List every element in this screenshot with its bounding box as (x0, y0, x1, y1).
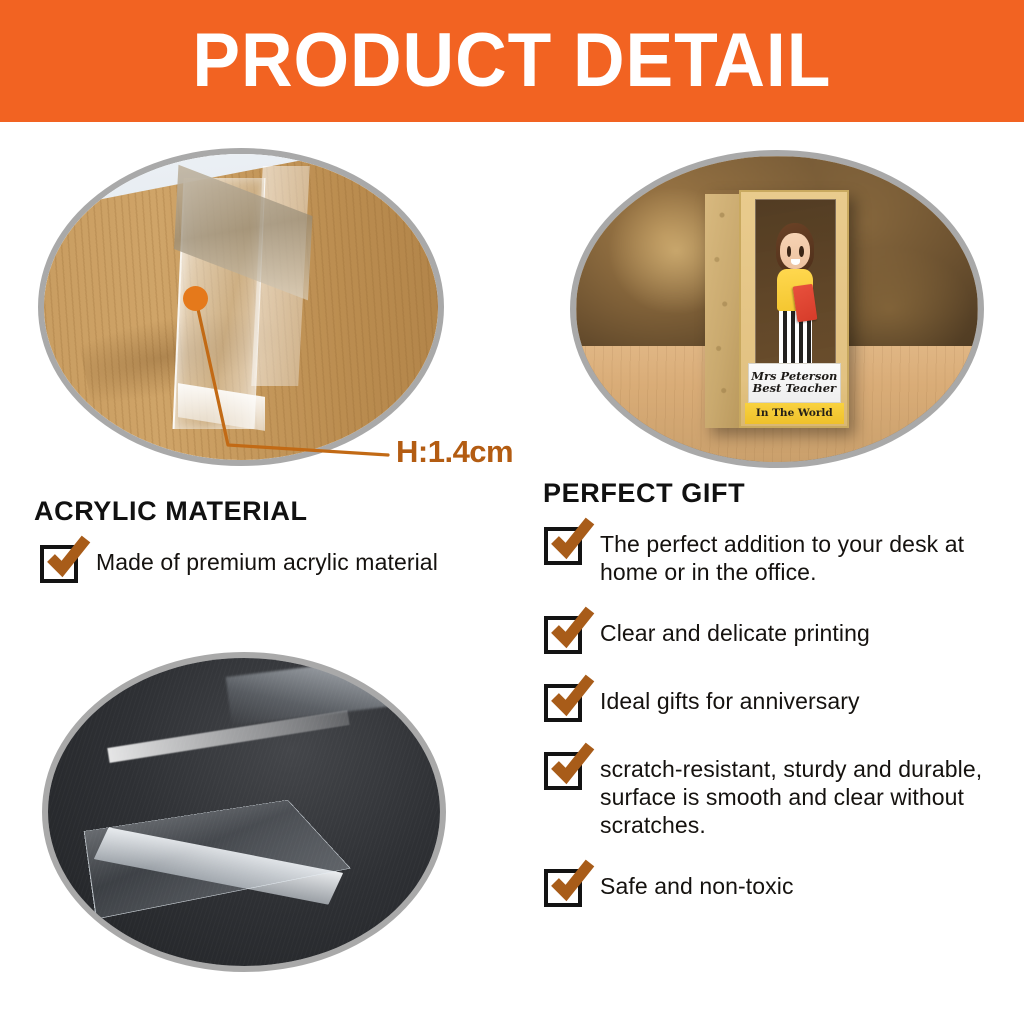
box-band-text: In The World (756, 407, 833, 419)
figurine-red-book (793, 284, 818, 323)
school-supplies-pattern-icon (705, 194, 740, 428)
check-icon (544, 869, 582, 907)
list-item: Made of premium acrylic material (40, 542, 520, 583)
section-heading-acrylic-material: ACRYLIC MATERIAL (34, 496, 308, 527)
check-icon (544, 684, 582, 722)
figurine-right-eye (799, 246, 804, 257)
callout-dot-icon (183, 286, 208, 311)
gift-box-photo: Mrs Peterson Best Teacher In The World (570, 150, 984, 468)
box-name-label: Mrs Peterson Best Teacher (748, 363, 841, 403)
list-item-label: Clear and delicate printing (600, 613, 870, 647)
box-display-window (755, 199, 835, 365)
list-item-label: The perfect addition to your desk at hom… (600, 524, 1006, 586)
box-yellow-band: In The World (745, 403, 845, 424)
list-item: Clear and delicate printing (544, 613, 1006, 654)
page-header-banner: PRODUCT DETAIL (0, 0, 1024, 122)
list-item: The perfect addition to your desk at hom… (544, 524, 1006, 586)
check-icon (544, 527, 582, 565)
list-item: Safe and non-toxic (544, 866, 1006, 907)
list-item: Ideal gifts for anniversary (544, 681, 1006, 722)
box-side-panel (705, 194, 740, 428)
check-icon (544, 616, 582, 654)
product-packaging-box: Mrs Peterson Best Teacher In The World (705, 190, 850, 429)
page-title: PRODUCT DETAIL (193, 23, 832, 99)
list-item-label: scratch-resistant, sturdy and durable, s… (600, 749, 1006, 839)
list-item-label: Safe and non-toxic (600, 866, 794, 900)
box-personalized-role: Best Teacher (753, 383, 837, 395)
acrylic-edge-photo (38, 148, 444, 466)
check-icon (40, 545, 78, 583)
list-item: scratch-resistant, sturdy and durable, s… (544, 749, 1006, 839)
height-callout-label: H:1.4cm (396, 434, 513, 470)
list-item-label: Ideal gifts for anniversary (600, 681, 860, 715)
bullet-list-acrylic-material: Made of premium acrylic material (40, 542, 520, 605)
box-front-panel: Mrs Peterson Best Teacher In The World (739, 190, 849, 429)
list-item-label: Made of premium acrylic material (96, 542, 438, 576)
check-icon (544, 752, 582, 790)
section-heading-perfect-gift: PERFECT GIFT (543, 478, 745, 509)
acrylic-edge-scene (44, 154, 438, 460)
acrylic-block-photo (42, 652, 446, 972)
bullet-list-perfect-gift: The perfect addition to your desk at hom… (544, 524, 1006, 934)
